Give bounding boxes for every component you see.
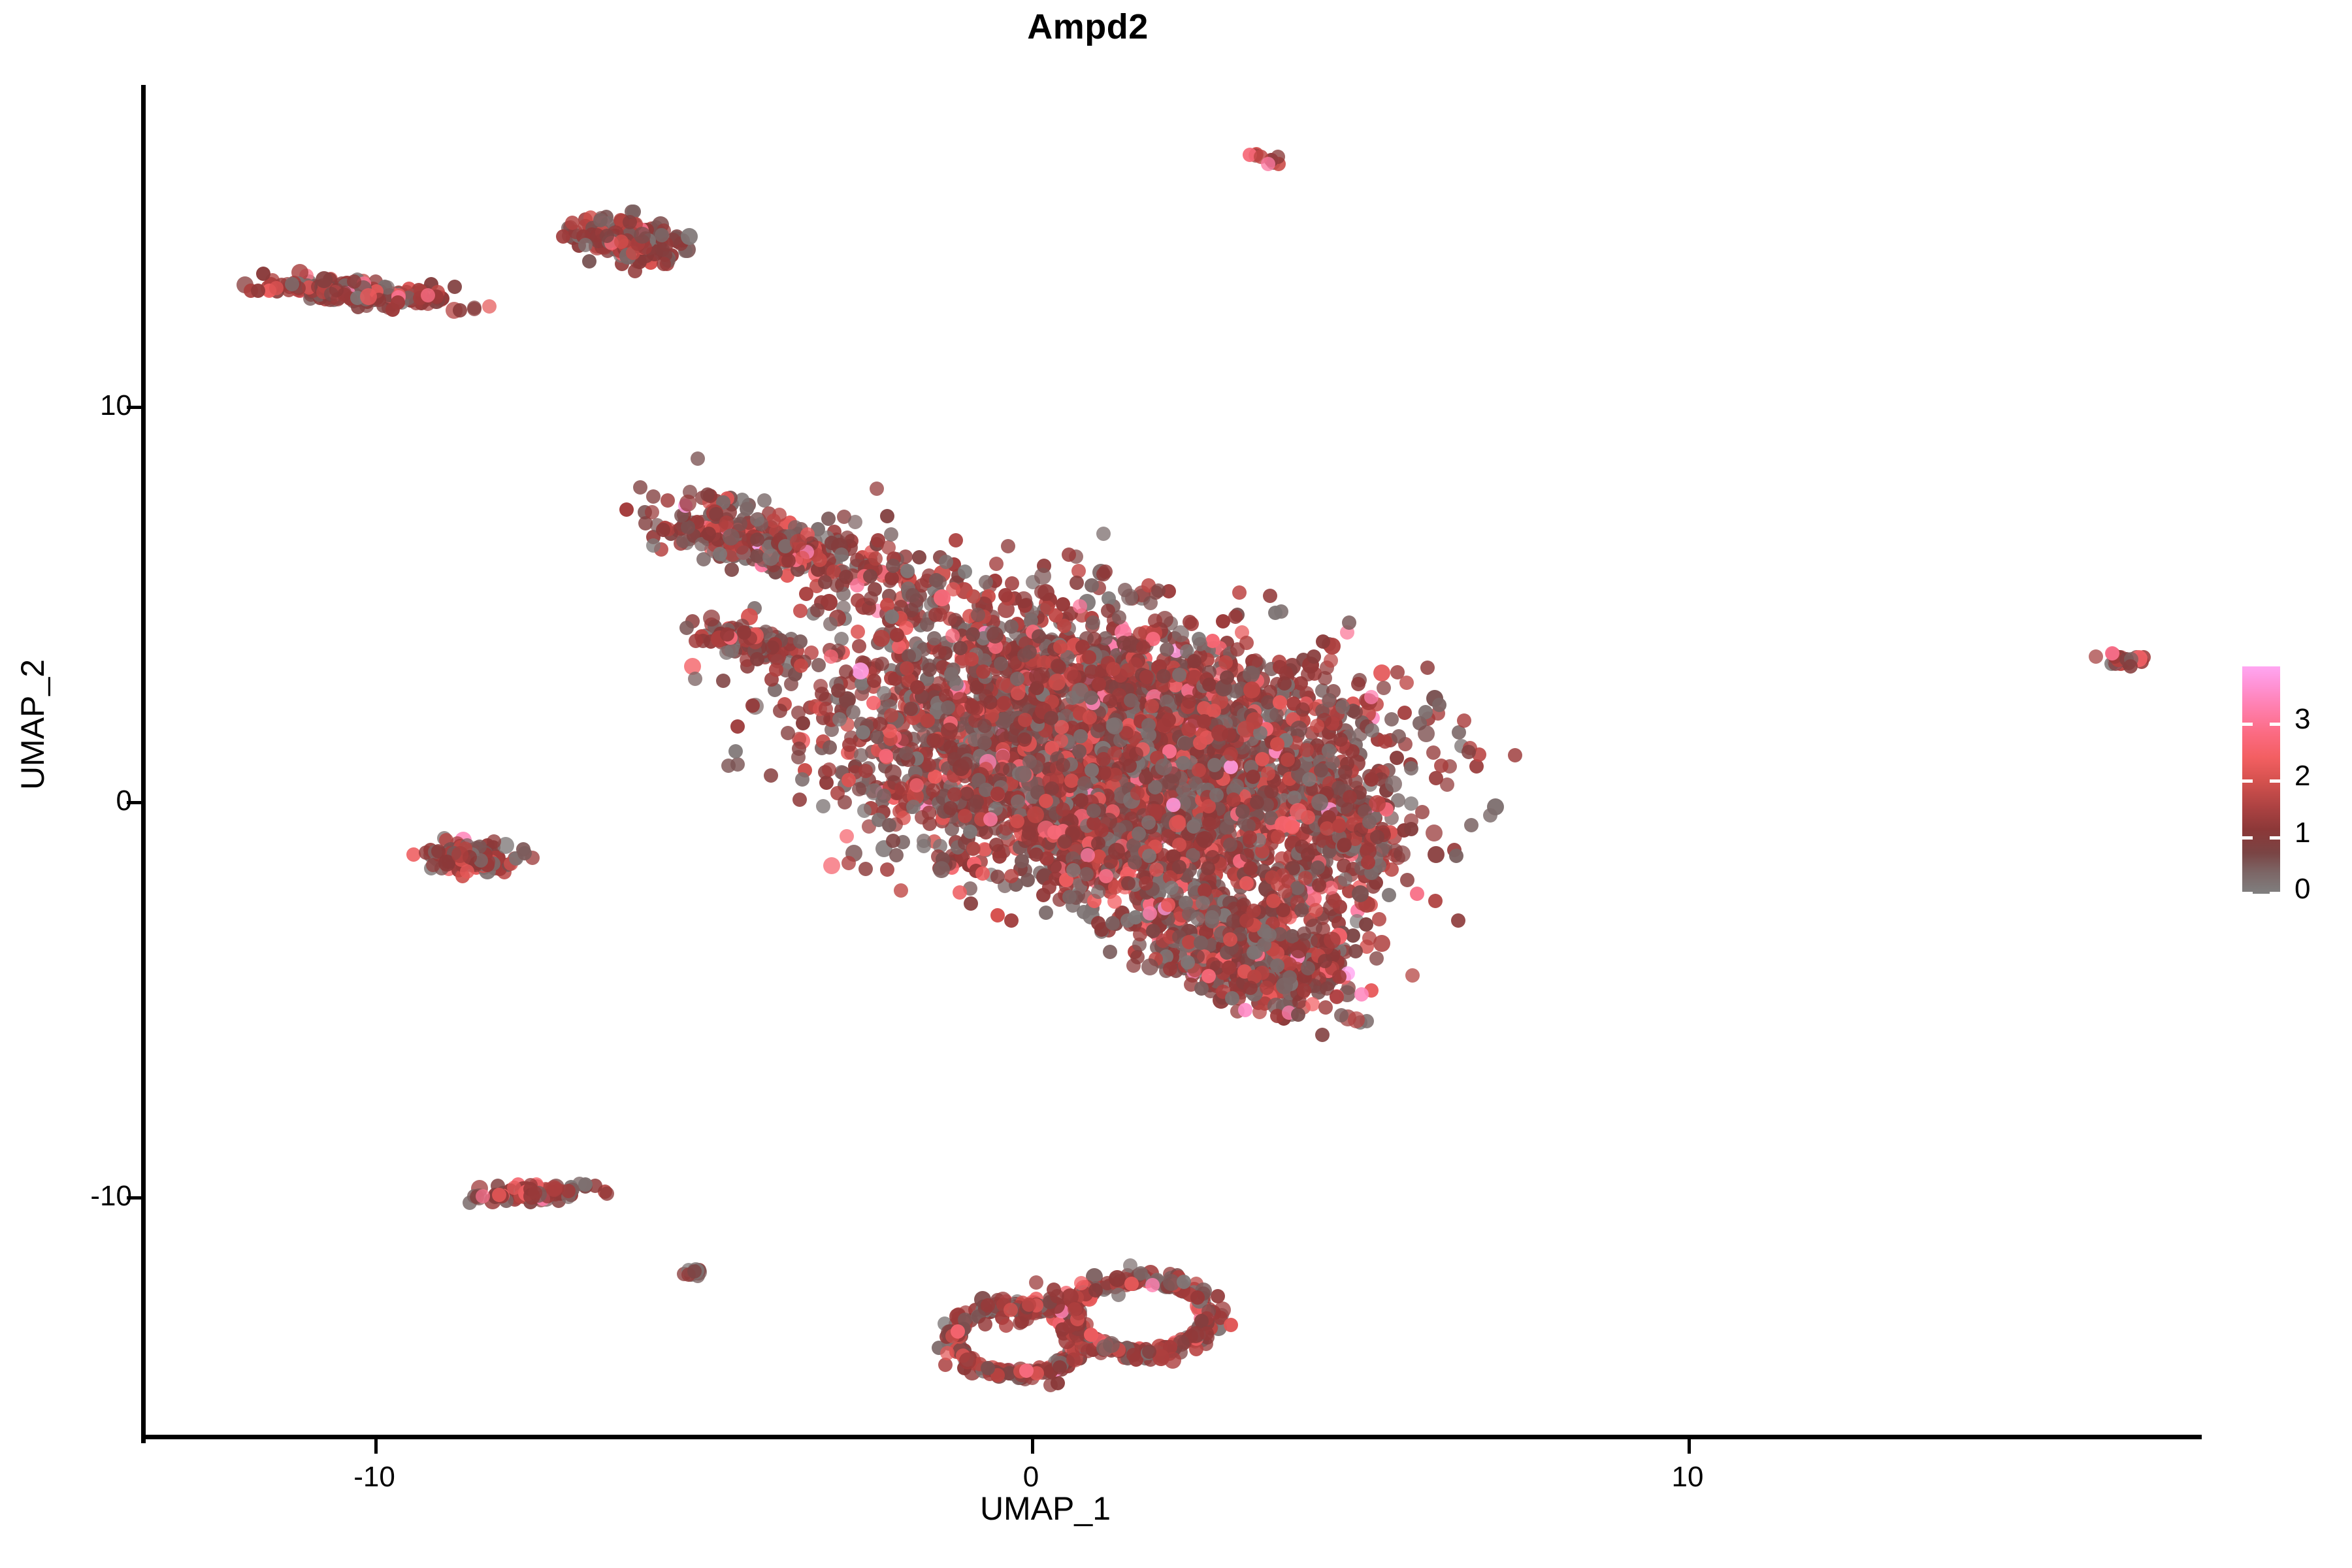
- scatter-point: [1118, 583, 1132, 597]
- scatter-point: [1177, 1275, 1191, 1289]
- scatter-point: [1228, 610, 1243, 624]
- scatter-point: [656, 523, 670, 537]
- scatter-point: [696, 552, 711, 566]
- scatter-point: [406, 847, 421, 862]
- scatter-point: [679, 495, 696, 512]
- scatter-point: [927, 631, 941, 645]
- scatter-point: [730, 719, 745, 734]
- scatter-point: [1273, 695, 1287, 710]
- scatter-point: [1420, 661, 1435, 675]
- scatter-point: [1073, 599, 1087, 613]
- scatter-point: [1364, 690, 1379, 704]
- scatter-point: [912, 550, 926, 564]
- scatter-point: [1142, 1345, 1156, 1359]
- scatter-point: [1243, 666, 1260, 683]
- scatter-point: [906, 588, 920, 602]
- scatter-point: [687, 1264, 702, 1279]
- scatter-point: [655, 242, 670, 257]
- scatter-point: [854, 748, 868, 762]
- scatter-point: [923, 662, 937, 677]
- scatter-point: [2089, 649, 2103, 664]
- scatter-point: [1096, 527, 1111, 541]
- scatter-point: [347, 274, 361, 289]
- scatter-point: [939, 555, 953, 569]
- scatter-point: [1117, 636, 1131, 650]
- scatter-point: [879, 749, 893, 763]
- scatter-point: [1190, 1290, 1205, 1305]
- scatter-point: [894, 883, 908, 898]
- scatter-point: [868, 551, 883, 566]
- scatter-point: [875, 657, 889, 671]
- scatter-point: [1193, 637, 1207, 651]
- scatter-point: [850, 553, 864, 567]
- scatter-point: [1322, 693, 1336, 708]
- scatter-point: [1246, 770, 1260, 784]
- scatter-point: [822, 762, 836, 777]
- scatter-point: [880, 862, 894, 877]
- scatter-point: [646, 538, 661, 553]
- scatter-point: [934, 589, 951, 606]
- scatter-point: [1039, 906, 1053, 920]
- scatter-point: [1109, 1270, 1126, 1287]
- scatter-point: [863, 569, 877, 583]
- scatter-point: [1084, 1328, 1098, 1342]
- scatter-point: [1335, 700, 1350, 714]
- scatter-point: [1404, 761, 1418, 776]
- scatter-point: [1136, 640, 1151, 655]
- scatter-point: [1457, 713, 1471, 728]
- scatter-point: [886, 559, 900, 573]
- scatter-point: [1004, 913, 1019, 928]
- scatter-point: [1088, 1283, 1103, 1298]
- scatter-point: [1053, 640, 1068, 654]
- scatter-point: [1156, 669, 1171, 683]
- scatter-point: [994, 657, 1008, 671]
- scatter-point: [949, 533, 963, 547]
- scatter-point: [728, 744, 743, 759]
- scatter-point: [1200, 1326, 1214, 1341]
- scatter-point: [1232, 585, 1247, 600]
- scatter-point: [448, 280, 462, 294]
- scatter-point: [851, 625, 865, 639]
- scatter-point: [256, 267, 270, 281]
- scatter-point: [998, 588, 1013, 602]
- scatter-point: [1243, 681, 1260, 698]
- scatter-point: [646, 489, 661, 504]
- scatter-points-layer: [145, 85, 2202, 1439]
- scatter-point: [476, 1189, 490, 1203]
- scatter-point: [1399, 676, 1414, 690]
- scatter-point: [1070, 576, 1084, 590]
- scatter-point: [838, 795, 852, 809]
- scatter-point: [975, 866, 990, 881]
- scatter-point: [1365, 723, 1379, 738]
- scatter-point: [945, 629, 960, 643]
- scatter-point: [1418, 725, 1435, 742]
- scatter-point: [799, 587, 813, 601]
- scatter-point: [1230, 642, 1245, 657]
- scatter-point: [2105, 646, 2119, 661]
- scatter-point: [1202, 678, 1217, 692]
- scatter-point: [867, 674, 881, 688]
- scatter-point: [1263, 589, 1277, 603]
- scatter-point: [821, 512, 836, 526]
- scatter-point: [1301, 667, 1315, 681]
- scatter-point: [1086, 615, 1100, 630]
- scatter-point: [600, 1186, 614, 1201]
- scatter-point: [1004, 619, 1019, 634]
- scatter-point: [964, 698, 979, 713]
- scatter-point: [1037, 584, 1054, 601]
- scatter-point: [1034, 568, 1051, 585]
- scatter-point: [929, 573, 943, 587]
- scatter-point: [757, 493, 772, 508]
- scatter-point: [951, 1324, 965, 1339]
- scatter-point: [839, 664, 853, 679]
- scatter-point: [492, 1188, 506, 1202]
- scatter-point: [578, 1177, 593, 1192]
- scatter-point: [451, 846, 468, 863]
- scatter-point: [1214, 1301, 1231, 1318]
- scatter-point: [864, 591, 878, 606]
- scatter-point: [795, 772, 809, 787]
- scatter-point: [796, 716, 810, 730]
- scatter-point: [623, 215, 637, 229]
- scatter-point: [619, 502, 634, 517]
- scatter-point: [1164, 1352, 1181, 1369]
- scatter-point: [793, 604, 808, 618]
- scatter-point: [1067, 670, 1081, 684]
- scatter-point: [885, 610, 899, 624]
- scatter-point: [1307, 649, 1321, 664]
- scatter-point: [1081, 1344, 1095, 1358]
- scatter-point: [880, 509, 894, 523]
- scatter-point: [1348, 705, 1363, 719]
- scatter-point: [1268, 606, 1282, 620]
- scatter-point: [1205, 634, 1220, 648]
- scatter-point: [614, 235, 629, 249]
- scatter-point: [990, 908, 1005, 923]
- scatter-point: [1426, 825, 1443, 841]
- scatter-point: [873, 630, 890, 647]
- scatter-point: [858, 862, 873, 876]
- scatter-point: [848, 515, 862, 529]
- scatter-point: [1392, 729, 1406, 743]
- scatter-point: [269, 281, 284, 295]
- scatter-point: [251, 284, 265, 298]
- scatter-point: [681, 228, 698, 245]
- scatter-point: [811, 658, 826, 672]
- scatter-point: [1143, 596, 1158, 610]
- scatter-point: [870, 482, 884, 496]
- scatter-point: [966, 627, 980, 642]
- scatter-point: [1085, 578, 1099, 593]
- scatter-point: [633, 480, 647, 495]
- plot-panel: [145, 85, 2202, 1439]
- scatter-point: [1096, 567, 1111, 581]
- scatter-point: [582, 254, 596, 269]
- scatter-point: [1400, 873, 1414, 887]
- scatter-point: [1019, 1364, 1034, 1378]
- scatter-point: [953, 885, 967, 900]
- scatter-point: [840, 829, 854, 843]
- scatter-point: [987, 627, 1004, 644]
- scatter-point: [285, 277, 299, 291]
- scatter-point: [815, 687, 829, 701]
- scatter-point: [1148, 613, 1162, 628]
- scatter-point: [546, 1180, 563, 1197]
- scatter-point: [1449, 849, 1463, 863]
- scatter-point: [1015, 591, 1032, 608]
- page-title: Ampd2: [0, 7, 2176, 47]
- scatter-point: [852, 639, 866, 653]
- scatter-point: [1053, 1360, 1067, 1375]
- scatter-point: [857, 804, 872, 818]
- scatter-point: [1318, 671, 1332, 685]
- scatter-point: [1432, 698, 1446, 712]
- scatter-point: [1377, 681, 1391, 695]
- scatter-point: [1483, 808, 1497, 823]
- scatter-point: [467, 301, 482, 315]
- scatter-point: [716, 674, 730, 688]
- scatter-point: [841, 856, 856, 870]
- scatter-point: [958, 564, 972, 579]
- scatter-point: [1464, 818, 1478, 832]
- scatter-point: [989, 838, 1004, 852]
- scatter-point: [1261, 157, 1275, 171]
- scatter-point: [932, 645, 947, 659]
- scatter-point: [948, 613, 962, 627]
- scatter-point: [823, 617, 838, 631]
- scatter-point: [1224, 1318, 1238, 1332]
- scatter-point: [852, 662, 869, 679]
- scatter-point: [989, 557, 1004, 571]
- scatter-point: [792, 792, 807, 807]
- umap-feature-plot: Ampd2 10 0 -10 -10 0 10 UMAP_2 UMAP_1 3 …: [0, 0, 2352, 1568]
- scatter-point: [871, 533, 885, 547]
- scatter-point: [1351, 677, 1365, 691]
- scatter-point: [460, 864, 474, 879]
- scatter-point: [1390, 751, 1404, 765]
- scatter-point: [1324, 653, 1338, 668]
- scatter-point: [979, 575, 993, 589]
- scatter-point: [764, 768, 778, 783]
- scatter-point: [507, 1181, 521, 1195]
- scatter-point: [1085, 664, 1099, 679]
- scatter-point: [1373, 664, 1390, 681]
- scatter-point: [1508, 748, 1522, 762]
- scatter-point: [1052, 660, 1066, 674]
- scatter-point: [816, 799, 830, 813]
- scatter-point: [964, 896, 978, 911]
- scatter-point: [823, 857, 840, 874]
- scatter-point: [391, 295, 405, 310]
- scatter-point: [773, 704, 787, 718]
- scatter-point: [482, 299, 497, 314]
- scatter-point: [1434, 759, 1448, 773]
- scatter-point: [831, 683, 845, 698]
- scatter-point: [766, 514, 781, 528]
- scatter-point: [1316, 634, 1330, 649]
- scatter-point: [517, 846, 532, 860]
- scatter-point: [1145, 1278, 1160, 1292]
- scatter-point: [884, 527, 898, 542]
- scatter-point: [1057, 619, 1071, 633]
- scatter-point: [839, 570, 853, 584]
- scatter-point: [688, 672, 702, 686]
- scatter-point: [721, 759, 736, 773]
- scatter-point: [661, 493, 675, 508]
- scatter-point: [1342, 615, 1356, 630]
- scatter-point: [1074, 1276, 1088, 1290]
- scatter-point: [1429, 771, 1443, 785]
- scatter-point: [2123, 659, 2138, 674]
- scatter-point: [691, 451, 705, 466]
- scatter-point: [745, 698, 760, 713]
- scatter-point: [856, 725, 870, 740]
- scatter-point: [1384, 712, 1399, 727]
- scatter-point: [453, 303, 467, 318]
- scatter-point: [1172, 668, 1186, 682]
- scatter-point: [818, 575, 832, 589]
- scatter-point: [889, 848, 904, 862]
- scatter-point: [1397, 706, 1412, 720]
- scatter-point: [810, 603, 825, 617]
- scatter-point: [645, 505, 659, 519]
- scatter-point: [940, 1346, 955, 1360]
- scatter-point: [1001, 539, 1015, 553]
- scatter-point: [1462, 745, 1476, 759]
